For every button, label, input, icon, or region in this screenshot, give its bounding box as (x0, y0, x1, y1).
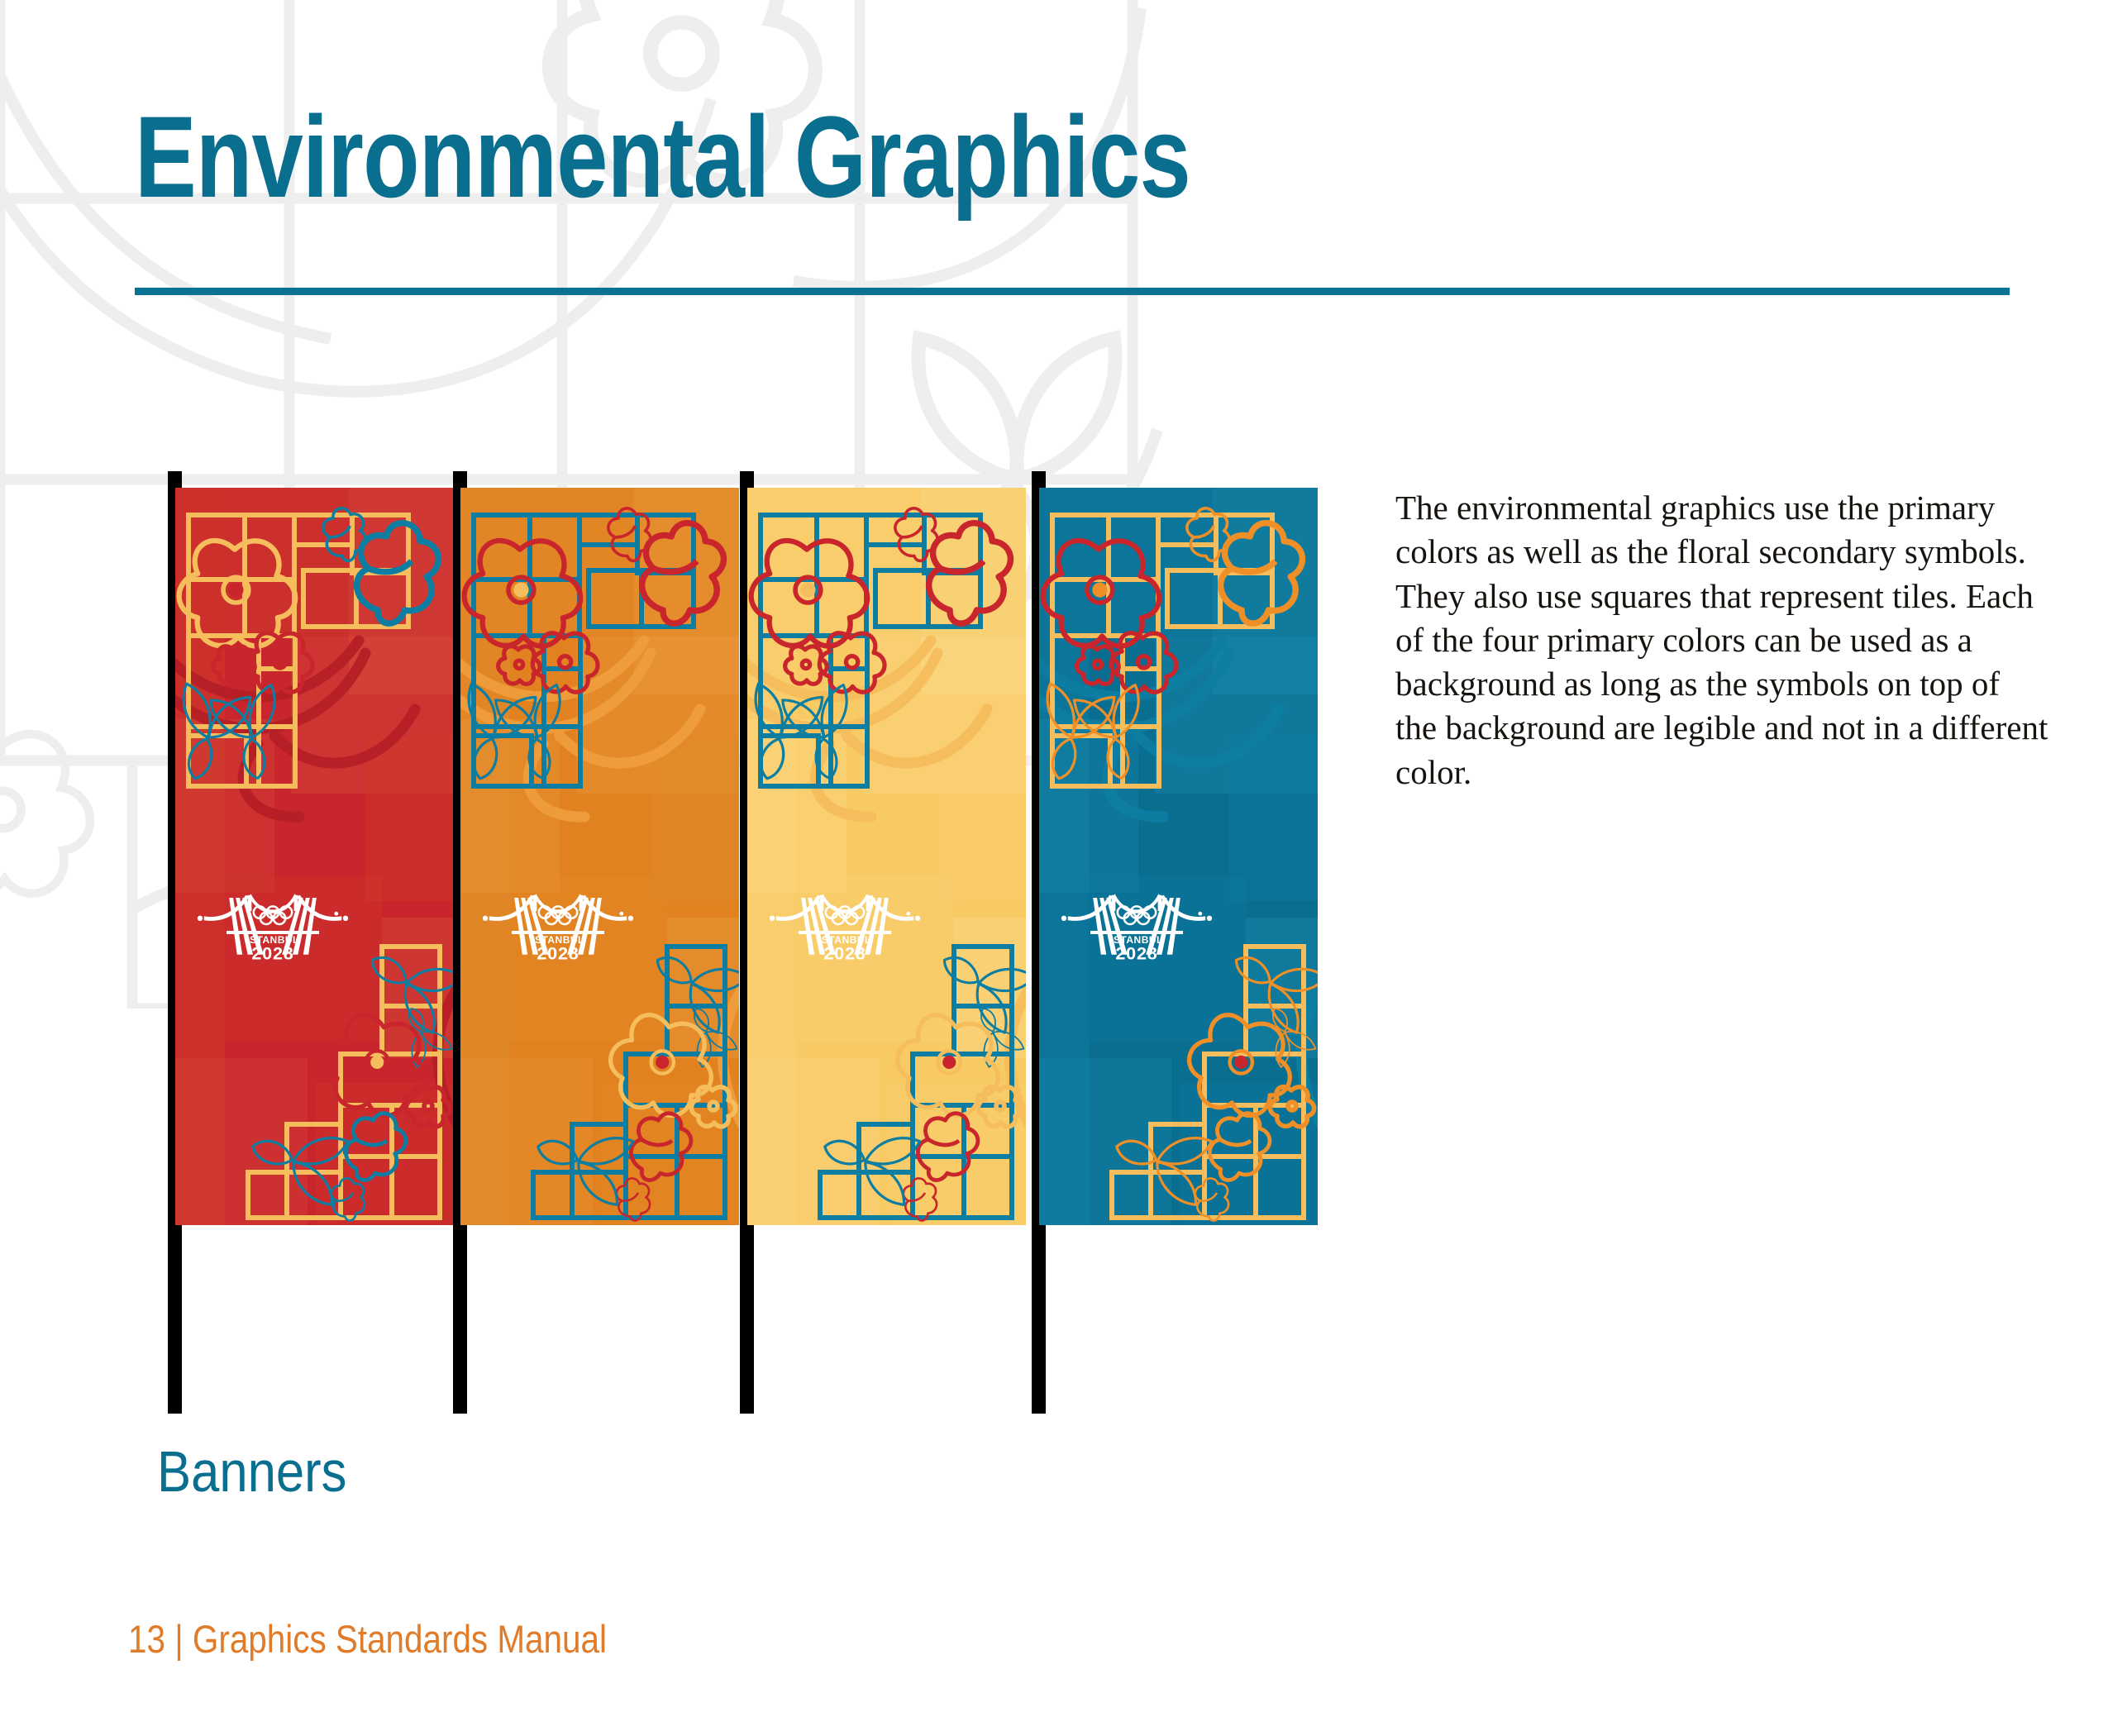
header-rule (135, 288, 2010, 295)
svg-text:2028: 2028 (1115, 942, 1157, 963)
svg-text:2028: 2028 (823, 942, 866, 963)
body-copy-paragraph: The environmental graphics use the prima… (1395, 486, 2048, 794)
banner-orange-flag: ISTANBUL 2028 (460, 488, 739, 1225)
svg-text:2028: 2028 (251, 942, 293, 963)
banner-red-flag: ISTANBUL 2028 (175, 488, 454, 1225)
banner-blue-flag: ISTANBUL 2028 (1039, 488, 1318, 1225)
footer-text: 13 | Graphics Standards Manual (128, 1616, 607, 1662)
page-title: Environmental Graphics (135, 99, 1190, 215)
section-caption: Banners (157, 1438, 346, 1505)
banner-yellow-flag: ISTANBUL 2028 (747, 488, 1026, 1225)
svg-text:2028: 2028 (537, 942, 579, 963)
